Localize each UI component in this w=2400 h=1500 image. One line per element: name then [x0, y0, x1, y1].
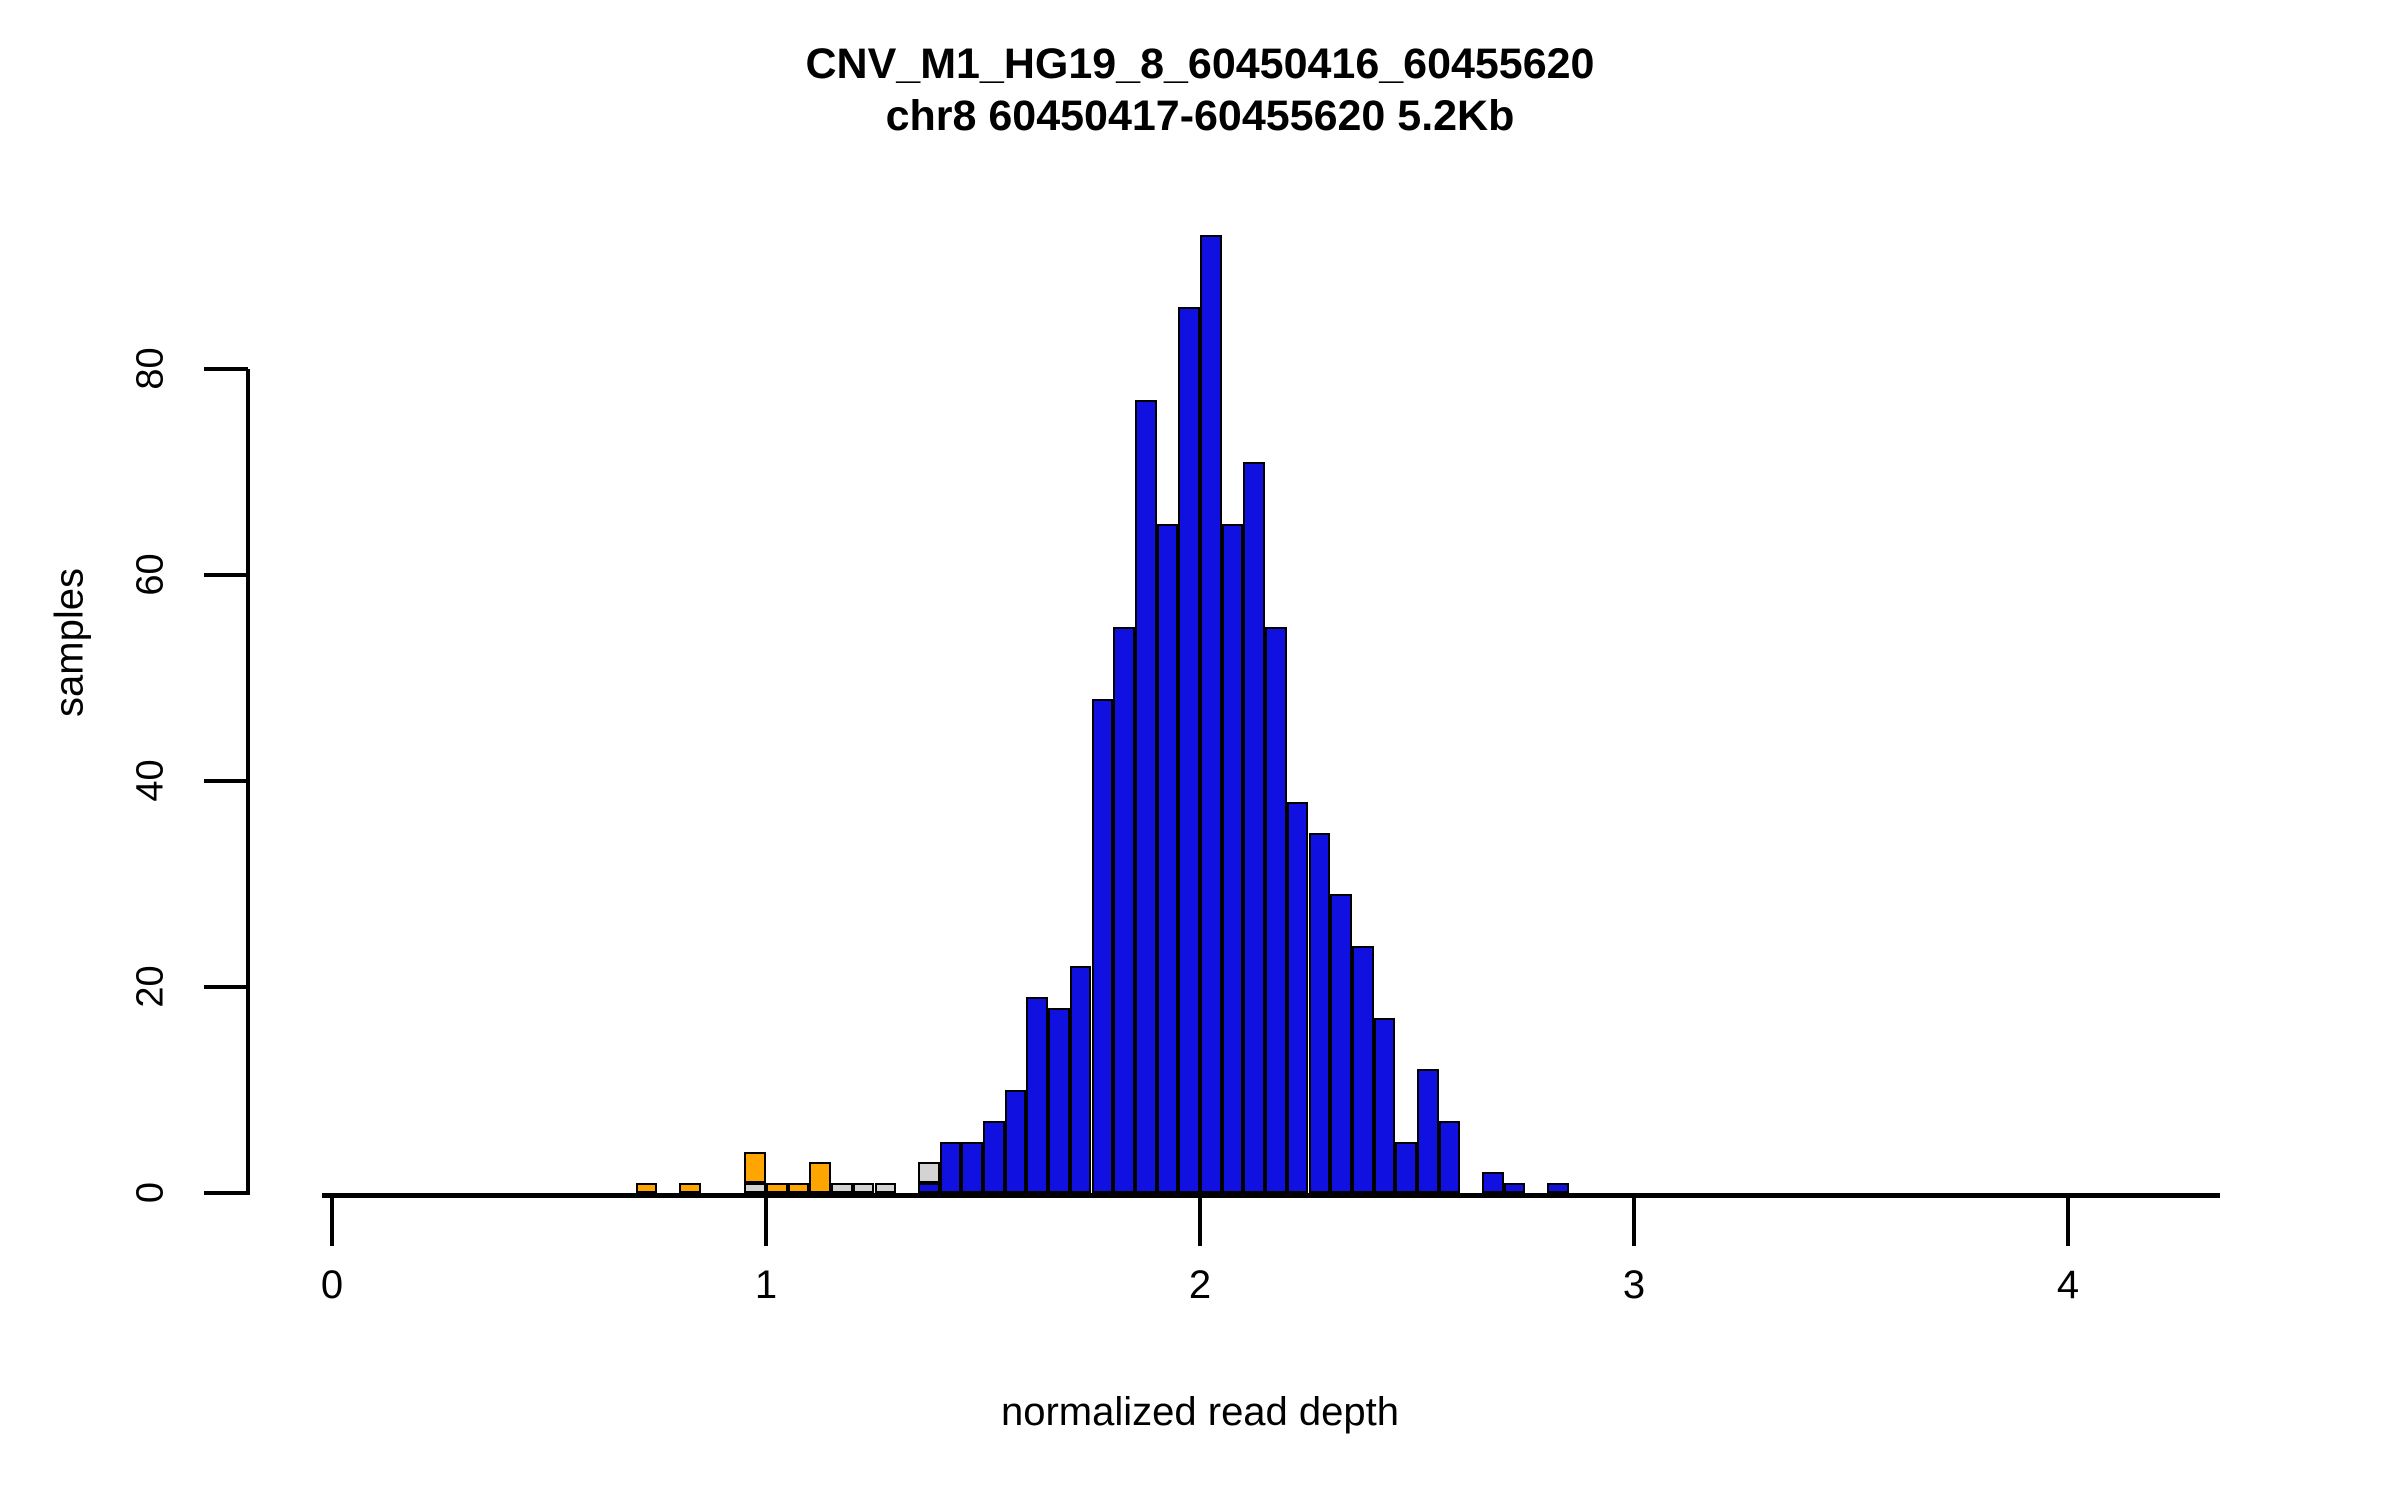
x-axis-title: normalized read depth — [0, 1390, 2400, 1435]
histogram-bar-segment — [1135, 400, 1157, 1193]
plot-area: 01234020406080 — [0, 0, 2400, 1500]
y-axis-tick — [204, 1191, 248, 1195]
histogram-bar-segment — [1374, 1018, 1396, 1193]
y-axis-tick — [204, 985, 248, 989]
histogram-bar-segment — [1243, 462, 1265, 1193]
histogram-bar-segment — [1200, 235, 1222, 1193]
histogram-bar-segment — [1395, 1142, 1417, 1194]
y-axis-tick-label: 20 — [130, 947, 173, 1027]
x-axis-tick-label: 4 — [2028, 1263, 2108, 1308]
histogram-bar-segment — [1178, 307, 1200, 1193]
histogram-bar-segment — [853, 1183, 875, 1193]
histogram-bar-segment — [1026, 997, 1048, 1193]
histogram-bar-segment — [809, 1162, 831, 1193]
x-axis-line — [322, 1193, 2220, 1198]
histogram-bar-segment — [744, 1183, 766, 1193]
histogram-bar-segment — [1070, 966, 1092, 1193]
histogram-bar-segment — [940, 1142, 962, 1194]
x-axis-tick-label: 1 — [726, 1263, 806, 1308]
x-axis-tick — [1198, 1198, 1202, 1246]
histogram-bar-segment — [1309, 833, 1331, 1194]
x-axis-tick — [764, 1198, 768, 1246]
x-axis-tick — [2066, 1198, 2070, 1246]
histogram-bar-segment — [1504, 1183, 1526, 1193]
histogram-bar-segment — [1157, 524, 1179, 1194]
y-axis-tick-label: 60 — [130, 535, 173, 615]
x-axis-tick — [1632, 1198, 1636, 1246]
histogram-bar-segment — [1092, 699, 1114, 1193]
y-axis-tick — [204, 779, 248, 783]
histogram-bar-segment — [1330, 894, 1352, 1193]
histogram-bar-segment — [875, 1183, 897, 1193]
y-axis-title: samples — [48, 513, 93, 773]
histogram-bar-segment — [1048, 1008, 1070, 1193]
histogram-bar-segment — [1287, 802, 1309, 1193]
histogram-bar-segment — [1265, 627, 1287, 1194]
y-axis-tick-label: 80 — [130, 329, 173, 409]
histogram-bar-segment — [918, 1162, 940, 1183]
histogram-bar-segment — [766, 1183, 788, 1193]
histogram-bar-segment — [1439, 1121, 1461, 1193]
histogram-bar-segment — [679, 1183, 701, 1193]
x-axis-tick-label: 2 — [1160, 1263, 1240, 1308]
histogram-bar-segment — [918, 1183, 940, 1193]
y-axis-tick-label: 0 — [130, 1153, 173, 1233]
chart-root: CNV_M1_HG19_8_60450416_60455620 chr8 604… — [0, 0, 2400, 1500]
y-axis-tick — [204, 573, 248, 577]
y-axis-tick — [204, 367, 248, 371]
histogram-bar-segment — [636, 1183, 658, 1193]
histogram-bar-segment — [744, 1152, 766, 1183]
histogram-bar-segment — [961, 1142, 983, 1194]
histogram-bar-segment — [1113, 627, 1135, 1194]
histogram-bar-segment — [1482, 1172, 1504, 1193]
histogram-bar-segment — [1417, 1069, 1439, 1193]
x-axis-tick-label: 0 — [292, 1263, 372, 1308]
x-axis-tick — [330, 1198, 334, 1246]
y-axis-tick-label: 40 — [130, 741, 173, 821]
histogram-bar-segment — [831, 1183, 853, 1193]
histogram-bar-segment — [1222, 524, 1244, 1194]
histogram-bar-segment — [1005, 1090, 1027, 1193]
histogram-bar-segment — [1547, 1183, 1569, 1193]
histogram-bar-segment — [788, 1183, 810, 1193]
histogram-bar-segment — [983, 1121, 1005, 1193]
x-axis-tick-label: 3 — [1594, 1263, 1674, 1308]
histogram-bar-segment — [1352, 946, 1374, 1193]
